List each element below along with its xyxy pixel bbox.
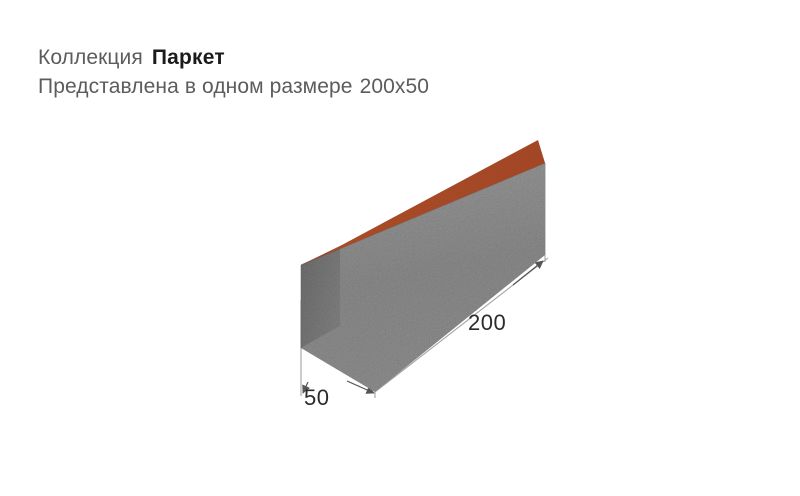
dimension-label-length: 200 [468,310,506,336]
dimension-label-width: 50 [304,385,329,411]
product-illustration-page: КоллекцияПаркет Представлена в одном раз… [0,0,800,496]
paving-block-drawing [0,0,800,496]
